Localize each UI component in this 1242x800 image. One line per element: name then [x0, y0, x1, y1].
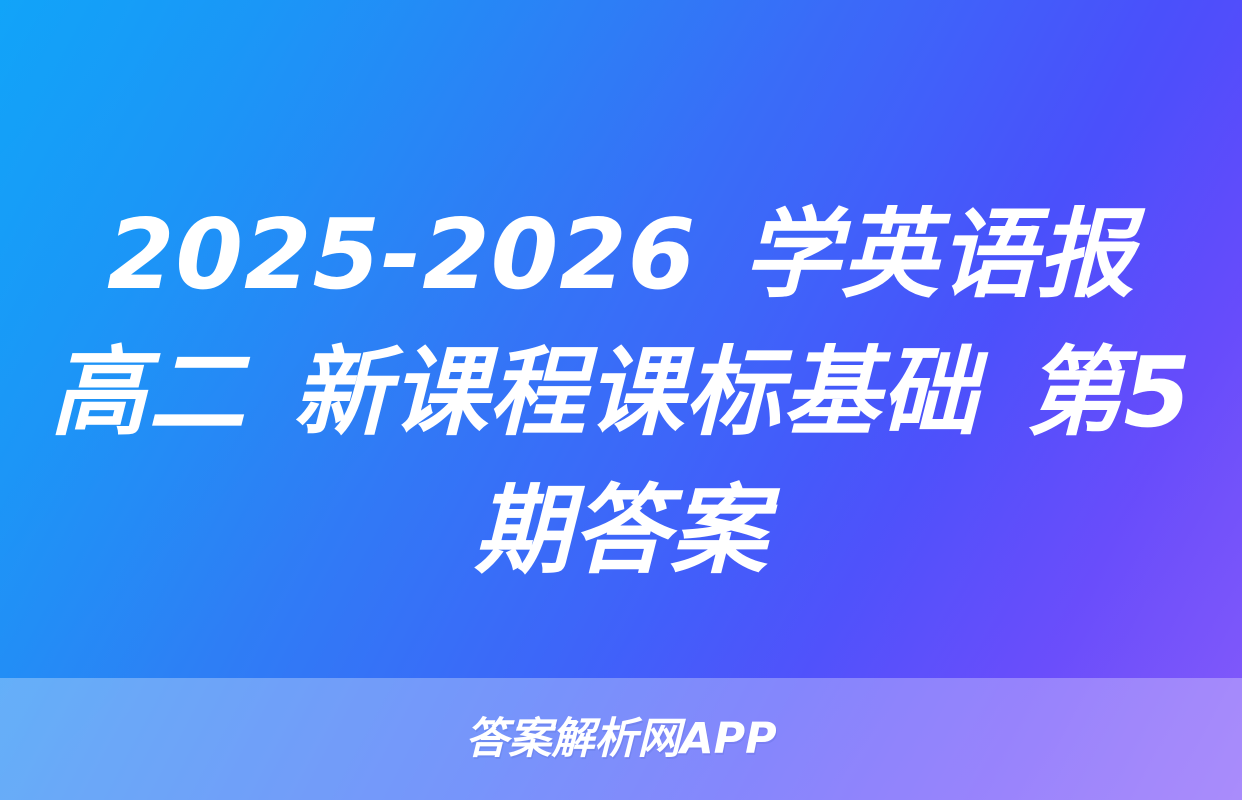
- page-title: 2025-2026 学英语报 高二 新课程课标基础 第5期答案: [46, 186, 1196, 600]
- app-watermark-label: 答案解析网APP: [465, 718, 776, 761]
- poster-background: 2025-2026 学英语报 高二 新课程课标基础 第5期答案 答案解析网APP: [0, 0, 1242, 800]
- poster-title-block: 2025-2026 学英语报 高二 新课程课标基础 第5期答案: [0, 186, 1242, 600]
- footer-watermark-band: 答案解析网APP: [0, 678, 1242, 800]
